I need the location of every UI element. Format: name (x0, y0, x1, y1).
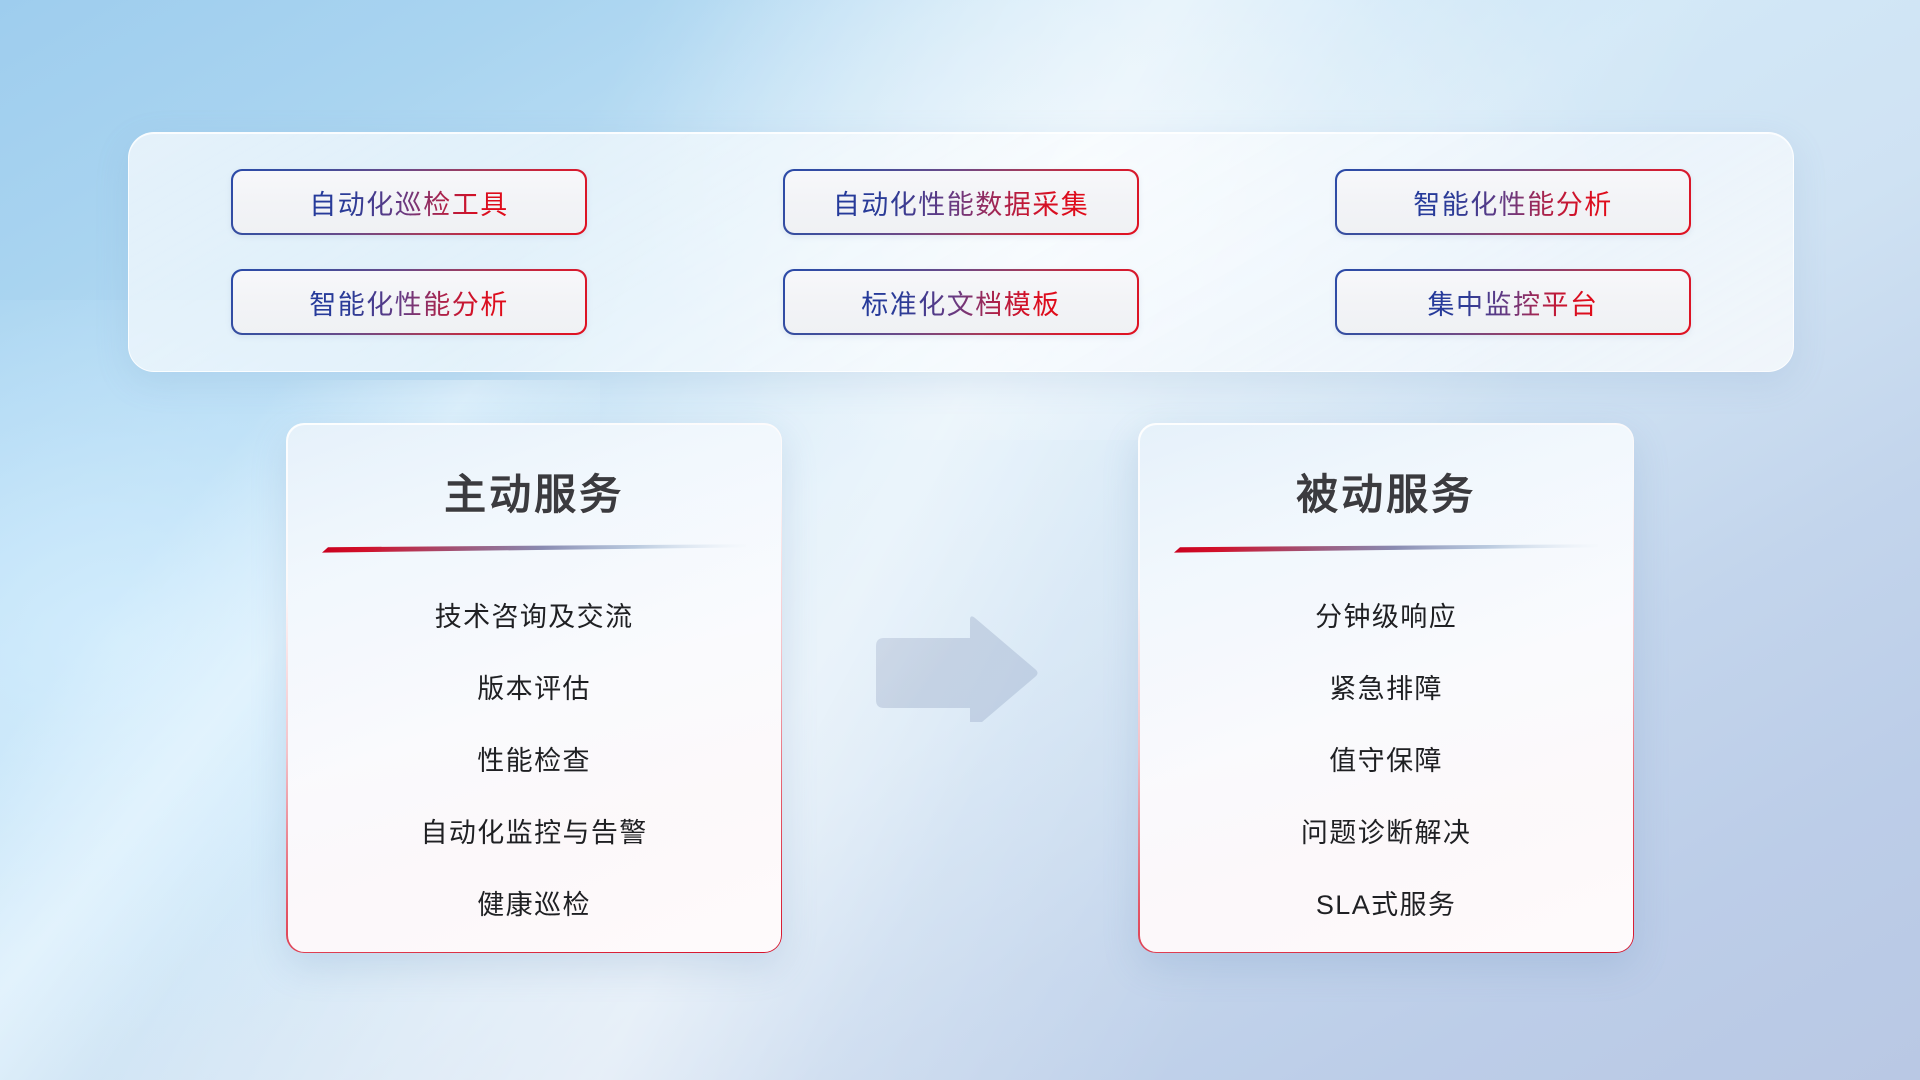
active-service-list: 技术咨询及交流 版本评估 性能检查 自动化监控与告警 健康巡检 (288, 581, 781, 941)
capability-pill-5[interactable]: 标准化文档模板 (783, 269, 1139, 335)
passive-service-card-body: 被动服务 分钟级响应 紧急排障 (1140, 425, 1633, 952)
list-item: 自动化监控与告警 (420, 797, 647, 869)
list-item: 技术咨询及交流 (435, 581, 634, 653)
list-item: SLA式服务 (1316, 869, 1456, 941)
list-item: 紧急排障 (1329, 653, 1443, 725)
capability-pill-1-body: 自动化巡检工具 (233, 171, 585, 233)
capability-pill-2-label: 自动化性能数据采集 (833, 183, 1090, 222)
capability-panel: 自动化巡检工具 自动化性能数据采集 智能化性能分析 智能化性能分析 (128, 132, 1794, 372)
slide-canvas: 自动化巡检工具 自动化性能数据采集 智能化性能分析 智能化性能分析 (0, 0, 1920, 1080)
capability-pill-1[interactable]: 自动化巡检工具 (231, 169, 587, 235)
capability-pill-2[interactable]: 自动化性能数据采集 (783, 169, 1139, 235)
arrow-right-icon (870, 612, 1040, 722)
capability-pill-4-label: 智能化性能分析 (309, 283, 509, 322)
list-item: 性能检查 (477, 725, 591, 797)
passive-service-card: 被动服务 分钟级响应 紧急排障 (1138, 423, 1634, 953)
capability-pill-5-label: 标准化文档模板 (861, 283, 1061, 322)
list-item: 分钟级响应 (1315, 581, 1457, 653)
capability-pill-6-body: 集中监控平台 (1337, 271, 1689, 333)
passive-service-title: 被动服务 (1296, 461, 1476, 522)
active-service-card-body: 主动服务 技术咨询及交流 版本评估 (288, 425, 781, 952)
capability-pill-6[interactable]: 集中监控平台 (1335, 269, 1691, 335)
passive-service-list: 分钟级响应 紧急排障 值守保障 问题诊断解决 SLA式服务 (1140, 581, 1633, 941)
passive-service-divider (1174, 544, 1598, 553)
active-service-card: 主动服务 技术咨询及交流 版本评估 (286, 423, 782, 953)
capability-pill-3-body: 智能化性能分析 (1337, 171, 1689, 233)
capability-pill-4[interactable]: 智能化性能分析 (231, 269, 587, 335)
capability-pill-5-body: 标准化文档模板 (785, 271, 1137, 333)
capability-pill-2-body: 自动化性能数据采集 (785, 171, 1137, 233)
capability-pill-6-label: 集中监控平台 (1428, 283, 1599, 322)
active-service-title: 主动服务 (444, 461, 624, 522)
capability-pill-3-label: 智能化性能分析 (1413, 183, 1613, 222)
capability-pill-3[interactable]: 智能化性能分析 (1335, 169, 1691, 235)
active-service-divider (322, 544, 746, 553)
list-item: 值守保障 (1329, 725, 1443, 797)
capability-pill-1-label: 自动化巡检工具 (309, 183, 509, 222)
list-item: 问题诊断解决 (1301, 797, 1471, 869)
capability-pill-grid: 自动化巡检工具 自动化性能数据采集 智能化性能分析 智能化性能分析 (231, 169, 1691, 335)
list-item: 版本评估 (477, 653, 591, 725)
list-item: 健康巡检 (477, 869, 591, 941)
capability-pill-4-body: 智能化性能分析 (233, 271, 585, 333)
